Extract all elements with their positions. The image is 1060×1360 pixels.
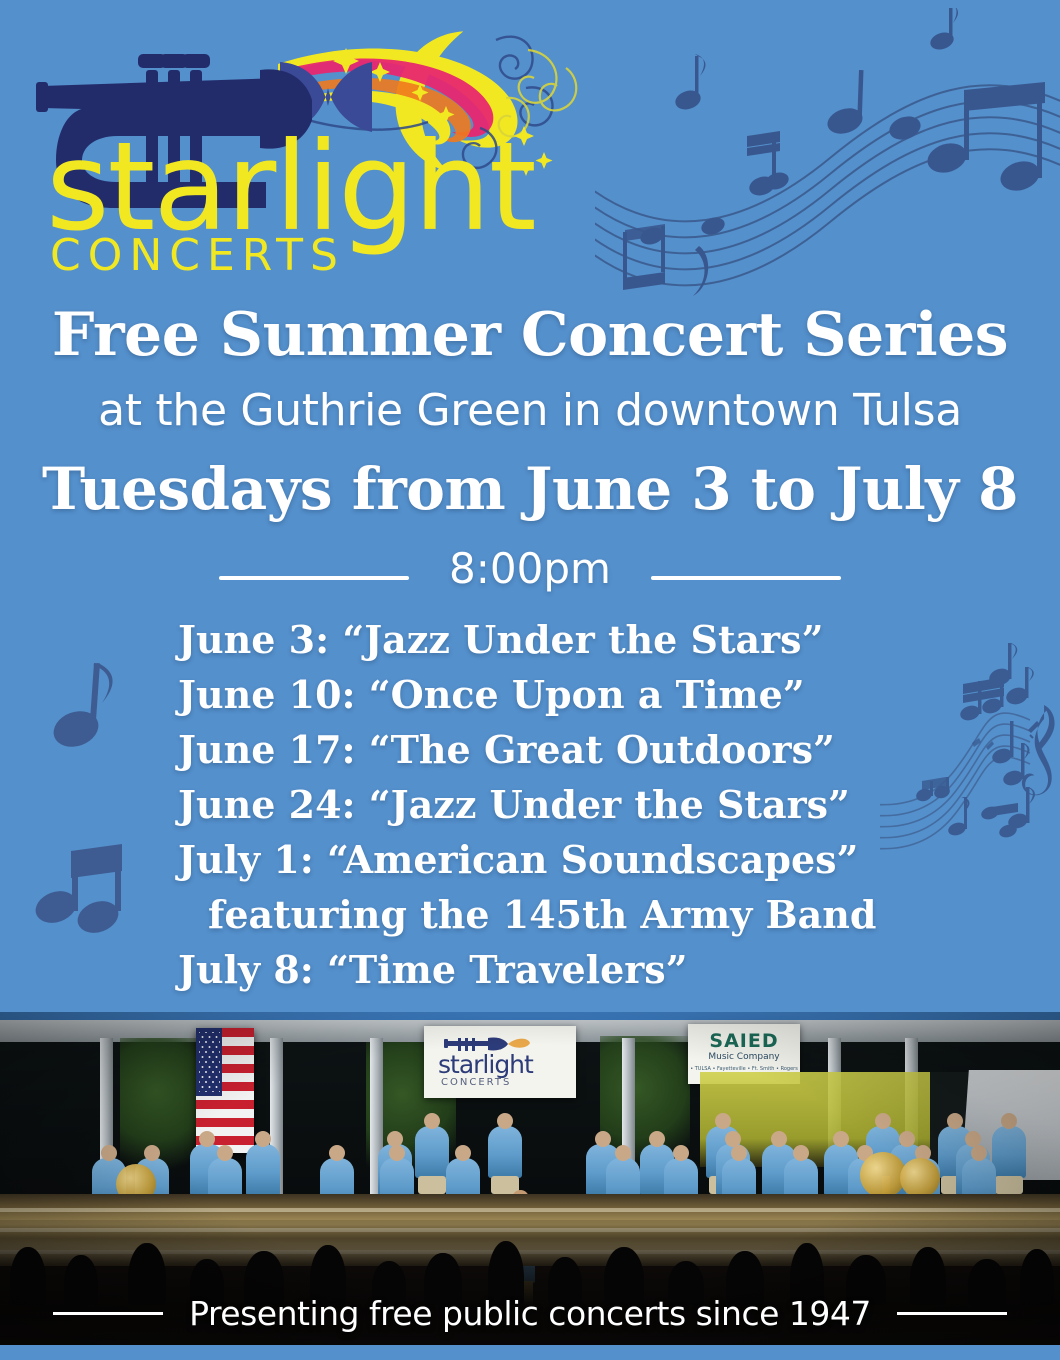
starlight-concerts-logo: starlight CONCERTS (28, 10, 588, 290)
logo-subword: CONCERTS (50, 234, 345, 278)
poster-dates: Tuesdays from June 3 to July 8 (0, 455, 1060, 523)
list-item: June 10: “Once Upon a Time” (178, 667, 938, 722)
divider-left (219, 576, 409, 580)
music-staff-swirl-decoration (595, 8, 1060, 298)
list-item: June 3: “Jazz Under the Stars” (178, 612, 938, 667)
list-item-featuring: featuring the 145th Army Band (178, 887, 938, 942)
poster-title: Free Summer Concert Series (0, 300, 1060, 370)
poster-subtitle: at the Guthrie Green in downtown Tulsa (0, 385, 1060, 436)
tagline-rule-right (897, 1312, 1007, 1315)
tagline-text: Presenting free public concerts since 19… (189, 1294, 871, 1333)
concert-poster: starlight CONCERTS Free Summer Concert S… (0, 0, 1060, 1360)
concert-schedule-list: June 3: “Jazz Under the Stars” June 10: … (178, 612, 938, 997)
showtime-row: 8:00pm (0, 548, 1060, 590)
list-item: June 24: “Jazz Under the Stars” (178, 777, 938, 832)
eighth-note-decoration (28, 645, 198, 935)
list-item: June 17: “The Great Outdoors” (178, 722, 938, 777)
tagline-rule-left (53, 1312, 163, 1315)
showtime: 8:00pm (449, 548, 611, 590)
list-item: July 8: “Time Travelers” (178, 942, 938, 997)
tagline-row: Presenting free public concerts since 19… (0, 1294, 1060, 1333)
bottom-strip (0, 1345, 1060, 1360)
divider-right (651, 576, 841, 580)
list-item: July 1: “American Soundscapes” (178, 832, 938, 887)
